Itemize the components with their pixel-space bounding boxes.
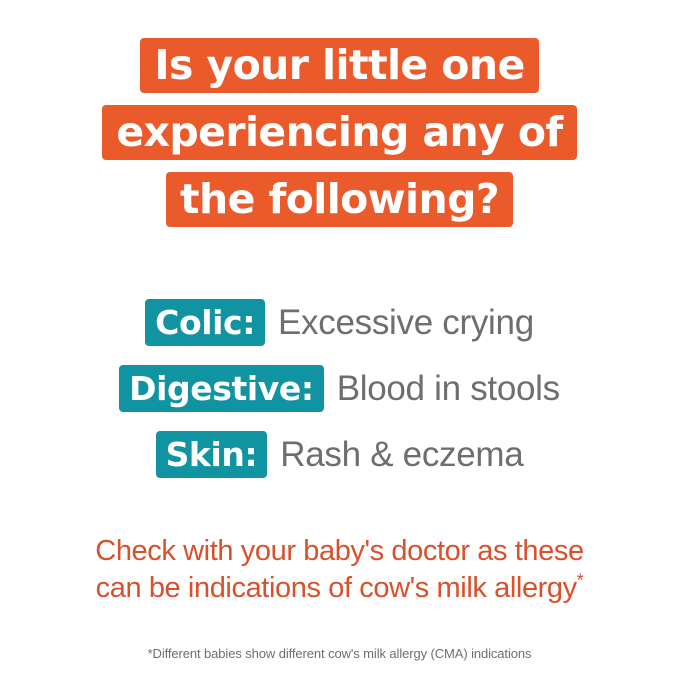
symptom-list: Colic: Excessive crying Digestive: Blood… bbox=[0, 299, 679, 478]
symptom-row-colic: Colic: Excessive crying bbox=[145, 299, 534, 346]
cta-line-2: can be indications of cow's milk allergy bbox=[96, 572, 577, 604]
footnote: *Different babies show different cow's m… bbox=[0, 645, 679, 663]
headline-block: Is your little one experiencing any of t… bbox=[0, 38, 679, 227]
cta-asterisk: * bbox=[577, 570, 584, 590]
symptom-text-skin: Rash & eczema bbox=[280, 431, 523, 478]
call-to-action: Check with your baby's doctor as these c… bbox=[0, 533, 679, 607]
cta-line-2-wrap: can be indications of cow's milk allergy… bbox=[36, 570, 643, 607]
symptom-tag-skin: Skin: bbox=[156, 431, 268, 478]
symptom-tag-colic: Colic: bbox=[145, 299, 265, 346]
symptom-tag-digestive: Digestive: bbox=[119, 365, 324, 412]
symptom-text-colic: Excessive crying bbox=[278, 299, 534, 346]
headline-line-2: experiencing any of bbox=[102, 105, 576, 160]
symptom-text-digestive: Blood in stools bbox=[337, 365, 560, 412]
symptom-row-skin: Skin: Rash & eczema bbox=[156, 431, 524, 478]
promo-poster: Is your little one experiencing any of t… bbox=[0, 0, 679, 679]
cta-line-1: Check with your baby's doctor as these bbox=[36, 533, 643, 570]
headline-line-1: Is your little one bbox=[140, 38, 538, 93]
headline-line-3: the following? bbox=[166, 172, 513, 227]
symptom-row-digestive: Digestive: Blood in stools bbox=[119, 365, 560, 412]
